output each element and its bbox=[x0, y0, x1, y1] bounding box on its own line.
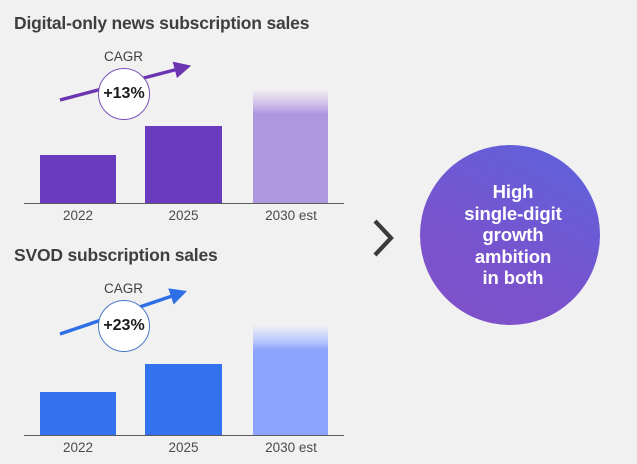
x-tick-svod-2022: 2022 bbox=[40, 440, 116, 455]
x-tick-digital-2025: 2025 bbox=[145, 208, 222, 223]
bar-digital-2030-est bbox=[253, 89, 328, 203]
bar-svod-2030-est bbox=[253, 325, 328, 435]
chart-panel-digital-news: Digital-only news subscription sales 202… bbox=[0, 0, 380, 232]
ambition-callout-circle: Highsingle-digitgrowthambitionin both bbox=[420, 145, 600, 325]
bar-svod-2022 bbox=[40, 392, 116, 435]
chart-title-digital-news: Digital-only news subscription sales bbox=[14, 13, 309, 34]
cagr-badge-svod: +23% bbox=[98, 300, 150, 352]
cagr-badge-digital-news: +13% bbox=[98, 68, 150, 120]
x-tick-digital-2030-est: 2030 est bbox=[248, 208, 334, 223]
cagr-caption-digital-news: CAGR bbox=[104, 49, 143, 64]
chart-title-svod: SVOD subscription sales bbox=[14, 245, 218, 266]
ambition-callout-text: Highsingle-digitgrowthambitionin both bbox=[458, 181, 561, 288]
plot-area-svod: 2022 2025 2030 est CAGR +23% bbox=[0, 272, 380, 462]
bar-digital-2022 bbox=[40, 155, 116, 203]
infographic-root: Digital-only news subscription sales 202… bbox=[0, 0, 637, 464]
x-axis-line-svod bbox=[24, 435, 344, 436]
plot-area-digital-news: 2022 2025 2030 est CAGR +13% bbox=[0, 40, 380, 230]
bar-svod-2025 bbox=[145, 364, 222, 435]
x-axis-line-digital-news bbox=[24, 203, 344, 204]
bar-digital-2025 bbox=[145, 126, 222, 203]
x-tick-svod-2025: 2025 bbox=[145, 440, 222, 455]
cagr-caption-svod: CAGR bbox=[104, 281, 143, 296]
x-tick-digital-2022: 2022 bbox=[40, 208, 116, 223]
chart-panel-svod: SVOD subscription sales 2022 2025 2030 e… bbox=[0, 232, 380, 464]
chevron-right-icon bbox=[368, 216, 398, 260]
x-tick-svod-2030-est: 2030 est bbox=[248, 440, 334, 455]
